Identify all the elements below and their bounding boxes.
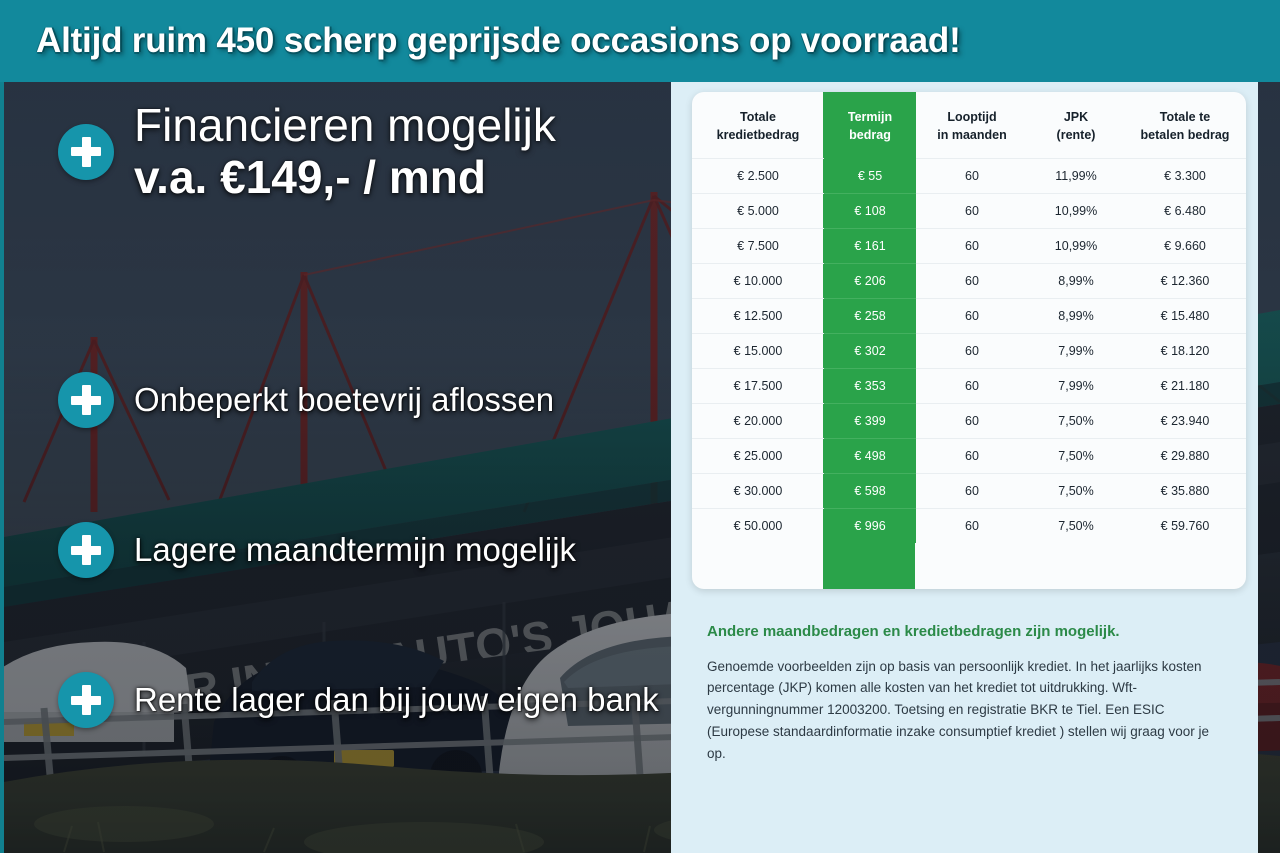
cell-term-amount: € 206 [824, 264, 916, 299]
cell-total-credit: € 5.000 [692, 194, 824, 229]
cell-jkp: 10,99% [1028, 194, 1124, 229]
cell-duration: 60 [916, 159, 1028, 194]
cell-duration: 60 [916, 509, 1028, 544]
cell-term-amount: € 399 [824, 404, 916, 439]
cell-total-credit: € 2.500 [692, 159, 824, 194]
cell-duration: 60 [916, 299, 1028, 334]
table-row: € 30.000€ 598607,50%€ 35.880 [692, 474, 1246, 509]
marketing-column: Financieren mogelijk v.a. €149,- / mnd O… [0, 82, 690, 853]
benefit-label: Lagere maandtermijn mogelijk [134, 531, 576, 569]
cell-total-credit: € 17.500 [692, 369, 824, 404]
plus-circle-icon [58, 522, 114, 578]
cell-total-credit: € 12.500 [692, 299, 824, 334]
table-row: € 7.500€ 1616010,99%€ 9.660 [692, 229, 1246, 264]
headline-block: Financieren mogelijk v.a. €149,- / mnd [58, 100, 678, 203]
header-line-1: JPK [1064, 110, 1088, 124]
cell-total-payable: € 35.880 [1124, 474, 1246, 509]
cell-total-payable: € 29.880 [1124, 439, 1246, 474]
cell-total-credit: € 25.000 [692, 439, 824, 474]
cell-jkp: 11,99% [1028, 159, 1124, 194]
cell-duration: 60 [916, 404, 1028, 439]
cell-total-credit: € 10.000 [692, 264, 824, 299]
benefit-item-3: Rente lager dan bij jouw eigen bank [58, 672, 659, 728]
header-jkp: JPK (rente) [1028, 92, 1124, 159]
cell-total-payable: € 9.660 [1124, 229, 1246, 264]
cell-total-payable: € 23.940 [1124, 404, 1246, 439]
table-row: € 15.000€ 302607,99%€ 18.120 [692, 334, 1246, 369]
cell-total-credit: € 30.000 [692, 474, 824, 509]
cell-total-credit: € 50.000 [692, 509, 824, 544]
header-line-1: Totale [740, 110, 776, 124]
cell-total-payable: € 15.480 [1124, 299, 1246, 334]
advertisement-banner: DEALER INRUILAUTO'S JOHAN MEURE ALTIJD 4… [0, 0, 1280, 853]
header-line-2: (rente) [1057, 128, 1096, 142]
table-row: € 17.500€ 353607,99%€ 21.180 [692, 369, 1246, 404]
finance-info-panel: Totale kredietbedrag Termijn bedrag Loop… [671, 82, 1258, 853]
header-line-2: in maanden [937, 128, 1006, 142]
header-term-amount: Termijn bedrag [824, 92, 916, 159]
cell-duration: 60 [916, 334, 1028, 369]
rate-table: Totale kredietbedrag Termijn bedrag Loop… [692, 92, 1246, 543]
cell-term-amount: € 302 [824, 334, 916, 369]
cell-duration: 60 [916, 194, 1028, 229]
headline-line-2: v.a. €149,- / mnd [134, 151, 486, 203]
cell-jkp: 7,99% [1028, 334, 1124, 369]
table-row: € 25.000€ 498607,50%€ 29.880 [692, 439, 1246, 474]
headline-line-1: Financieren mogelijk [134, 99, 556, 151]
cell-jkp: 10,99% [1028, 229, 1124, 264]
plus-circle-icon [58, 124, 114, 180]
cell-total-credit: € 20.000 [692, 404, 824, 439]
cell-duration: 60 [916, 474, 1028, 509]
table-header-row: Totale kredietbedrag Termijn bedrag Loop… [692, 92, 1246, 159]
header-line-2: bedrag [849, 128, 891, 142]
cell-jkp: 7,99% [1028, 369, 1124, 404]
cell-term-amount: € 55 [824, 159, 916, 194]
cell-jkp: 7,50% [1028, 439, 1124, 474]
table-row: € 50.000€ 996607,50%€ 59.760 [692, 509, 1246, 544]
cell-total-payable: € 18.120 [1124, 334, 1246, 369]
cell-term-amount: € 498 [824, 439, 916, 474]
cell-jkp: 8,99% [1028, 299, 1124, 334]
cell-term-amount: € 108 [824, 194, 916, 229]
header-line-2: kredietbedrag [717, 128, 800, 142]
cell-term-amount: € 598 [824, 474, 916, 509]
plus-circle-icon [58, 372, 114, 428]
header-line-2: betalen bedrag [1141, 128, 1230, 142]
cell-duration: 60 [916, 439, 1028, 474]
benefit-label: Onbeperkt boetevrij aflossen [134, 381, 554, 419]
cell-total-payable: € 12.360 [1124, 264, 1246, 299]
cell-jkp: 7,50% [1028, 509, 1124, 544]
cell-term-amount: € 353 [824, 369, 916, 404]
cell-total-credit: € 7.500 [692, 229, 824, 264]
cell-jkp: 7,50% [1028, 404, 1124, 439]
table-row: € 10.000€ 206608,99%€ 12.360 [692, 264, 1246, 299]
benefit-item-2: Lagere maandtermijn mogelijk [58, 522, 576, 578]
disclaimer-block: Andere maandbedragen en kredietbedragen … [707, 622, 1217, 765]
plus-circle-icon [58, 672, 114, 728]
cell-term-amount: € 996 [824, 509, 916, 544]
table-row: € 2.500€ 556011,99%€ 3.300 [692, 159, 1246, 194]
header-line-1: Termijn [848, 110, 892, 124]
cell-jkp: 7,50% [1028, 474, 1124, 509]
benefit-item-1: Onbeperkt boetevrij aflossen [58, 372, 554, 428]
table-row: € 20.000€ 399607,50%€ 23.940 [692, 404, 1246, 439]
cell-term-amount: € 258 [824, 299, 916, 334]
header-line-1: Looptijd [947, 110, 996, 124]
cell-total-payable: € 6.480 [1124, 194, 1246, 229]
cell-total-credit: € 15.000 [692, 334, 824, 369]
table-row: € 12.500€ 258608,99%€ 15.480 [692, 299, 1246, 334]
table-row: € 5.000€ 1086010,99%€ 6.480 [692, 194, 1246, 229]
cell-jkp: 8,99% [1028, 264, 1124, 299]
cell-term-amount: € 161 [824, 229, 916, 264]
promo-banner: Altijd ruim 450 scherp geprijsde occasio… [0, 0, 1280, 82]
disclaimer-title: Andere maandbedragen en kredietbedragen … [707, 622, 1217, 642]
cell-duration: 60 [916, 369, 1028, 404]
header-total-credit: Totale kredietbedrag [692, 92, 824, 159]
cell-total-payable: € 3.300 [1124, 159, 1246, 194]
cell-total-payable: € 59.760 [1124, 509, 1246, 544]
rate-table-card: Totale kredietbedrag Termijn bedrag Loop… [692, 92, 1246, 589]
header-duration: Looptijd in maanden [916, 92, 1028, 159]
cell-total-payable: € 21.180 [1124, 369, 1246, 404]
cell-duration: 60 [916, 264, 1028, 299]
benefit-label: Rente lager dan bij jouw eigen bank [134, 681, 659, 719]
header-line-1: Totale te [1160, 110, 1210, 124]
rate-table-body: € 2.500€ 556011,99%€ 3.300€ 5.000€ 10860… [692, 159, 1246, 544]
promo-banner-text: Altijd ruim 450 scherp geprijsde occasio… [36, 21, 961, 61]
cell-duration: 60 [916, 229, 1028, 264]
header-total-payable: Totale te betalen bedrag [1124, 92, 1246, 159]
disclaimer-body: Genoemde voorbeelden zijn op basis van p… [707, 656, 1217, 765]
